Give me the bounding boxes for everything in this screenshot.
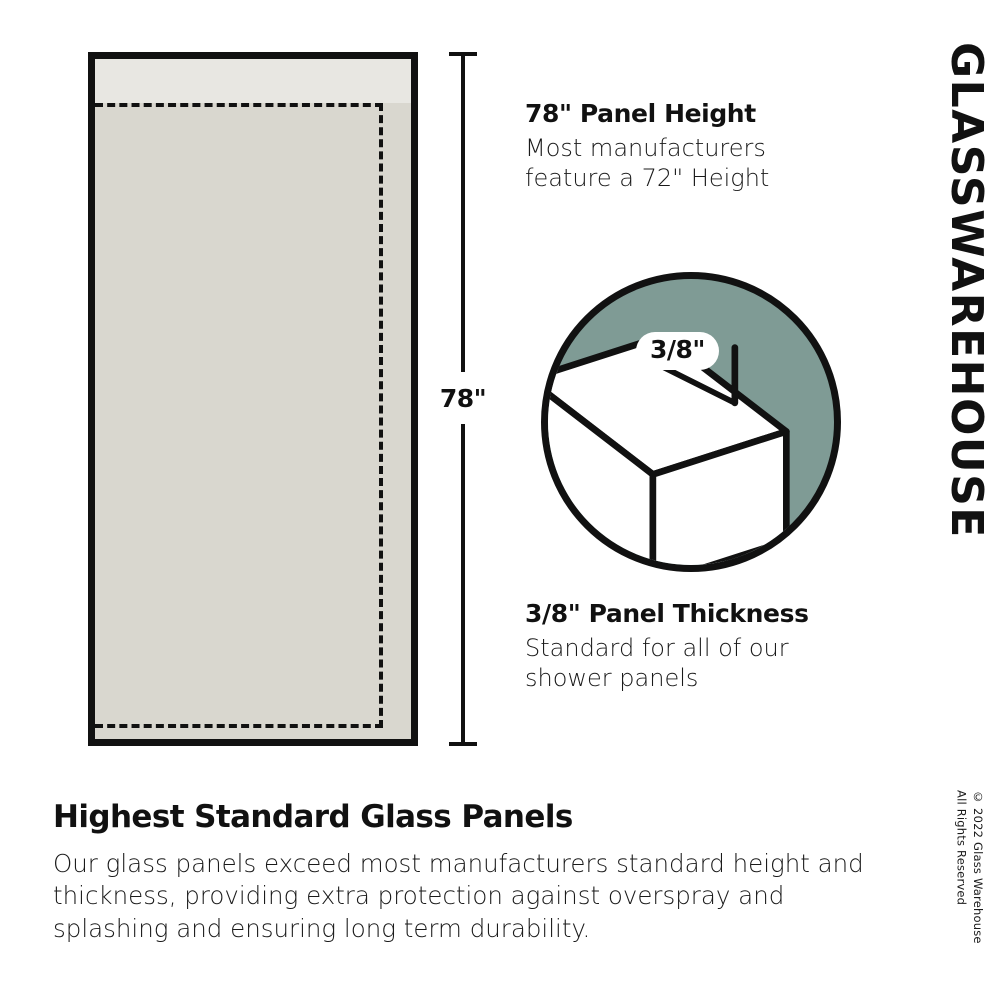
- brand-wordmark: GLASSWAREHOUSE: [944, 42, 988, 539]
- panel-thickness-title: 3/8" Panel Thickness: [525, 600, 865, 628]
- thickness-chip-label: 3/8": [636, 332, 719, 370]
- panel-thickness-callout: 3/8" Panel Thickness Standard for all of…: [525, 600, 865, 694]
- dimension-cap-top: [449, 52, 477, 56]
- copyright-notice: © 2022 Glass Warehouse All Rights Reserv…: [953, 790, 986, 944]
- copyright-line-2: All Rights Reserved: [954, 790, 968, 905]
- panel-standard-height-dashed-outline: [95, 103, 383, 728]
- panel-top-highlight: [95, 59, 411, 103]
- panel-height-callout: 78" Panel Height Most manufacturers feat…: [525, 100, 855, 194]
- panel-thickness-body: Standard for all of our shower panels: [525, 633, 865, 694]
- panel-height-body: Most manufacturers feature a 72" Height: [525, 133, 855, 194]
- panel-thickness-detail: 3/8": [541, 272, 841, 572]
- footer-section: Highest Standard Glass Panels Our glass …: [53, 800, 883, 945]
- dimension-cap-bottom: [449, 742, 477, 746]
- footer-title: Highest Standard Glass Panels: [53, 800, 883, 834]
- copyright-line-1: © 2022 Glass Warehouse: [971, 790, 985, 944]
- panel-height-title: 78" Panel Height: [525, 100, 855, 128]
- footer-body: Our glass panels exceed most manufacture…: [53, 848, 883, 945]
- glass-edge-illustration: [548, 279, 834, 565]
- height-dimension-label: 78": [434, 372, 492, 424]
- glass-panel-diagram: [88, 52, 418, 746]
- detail-circle-background: [541, 272, 841, 572]
